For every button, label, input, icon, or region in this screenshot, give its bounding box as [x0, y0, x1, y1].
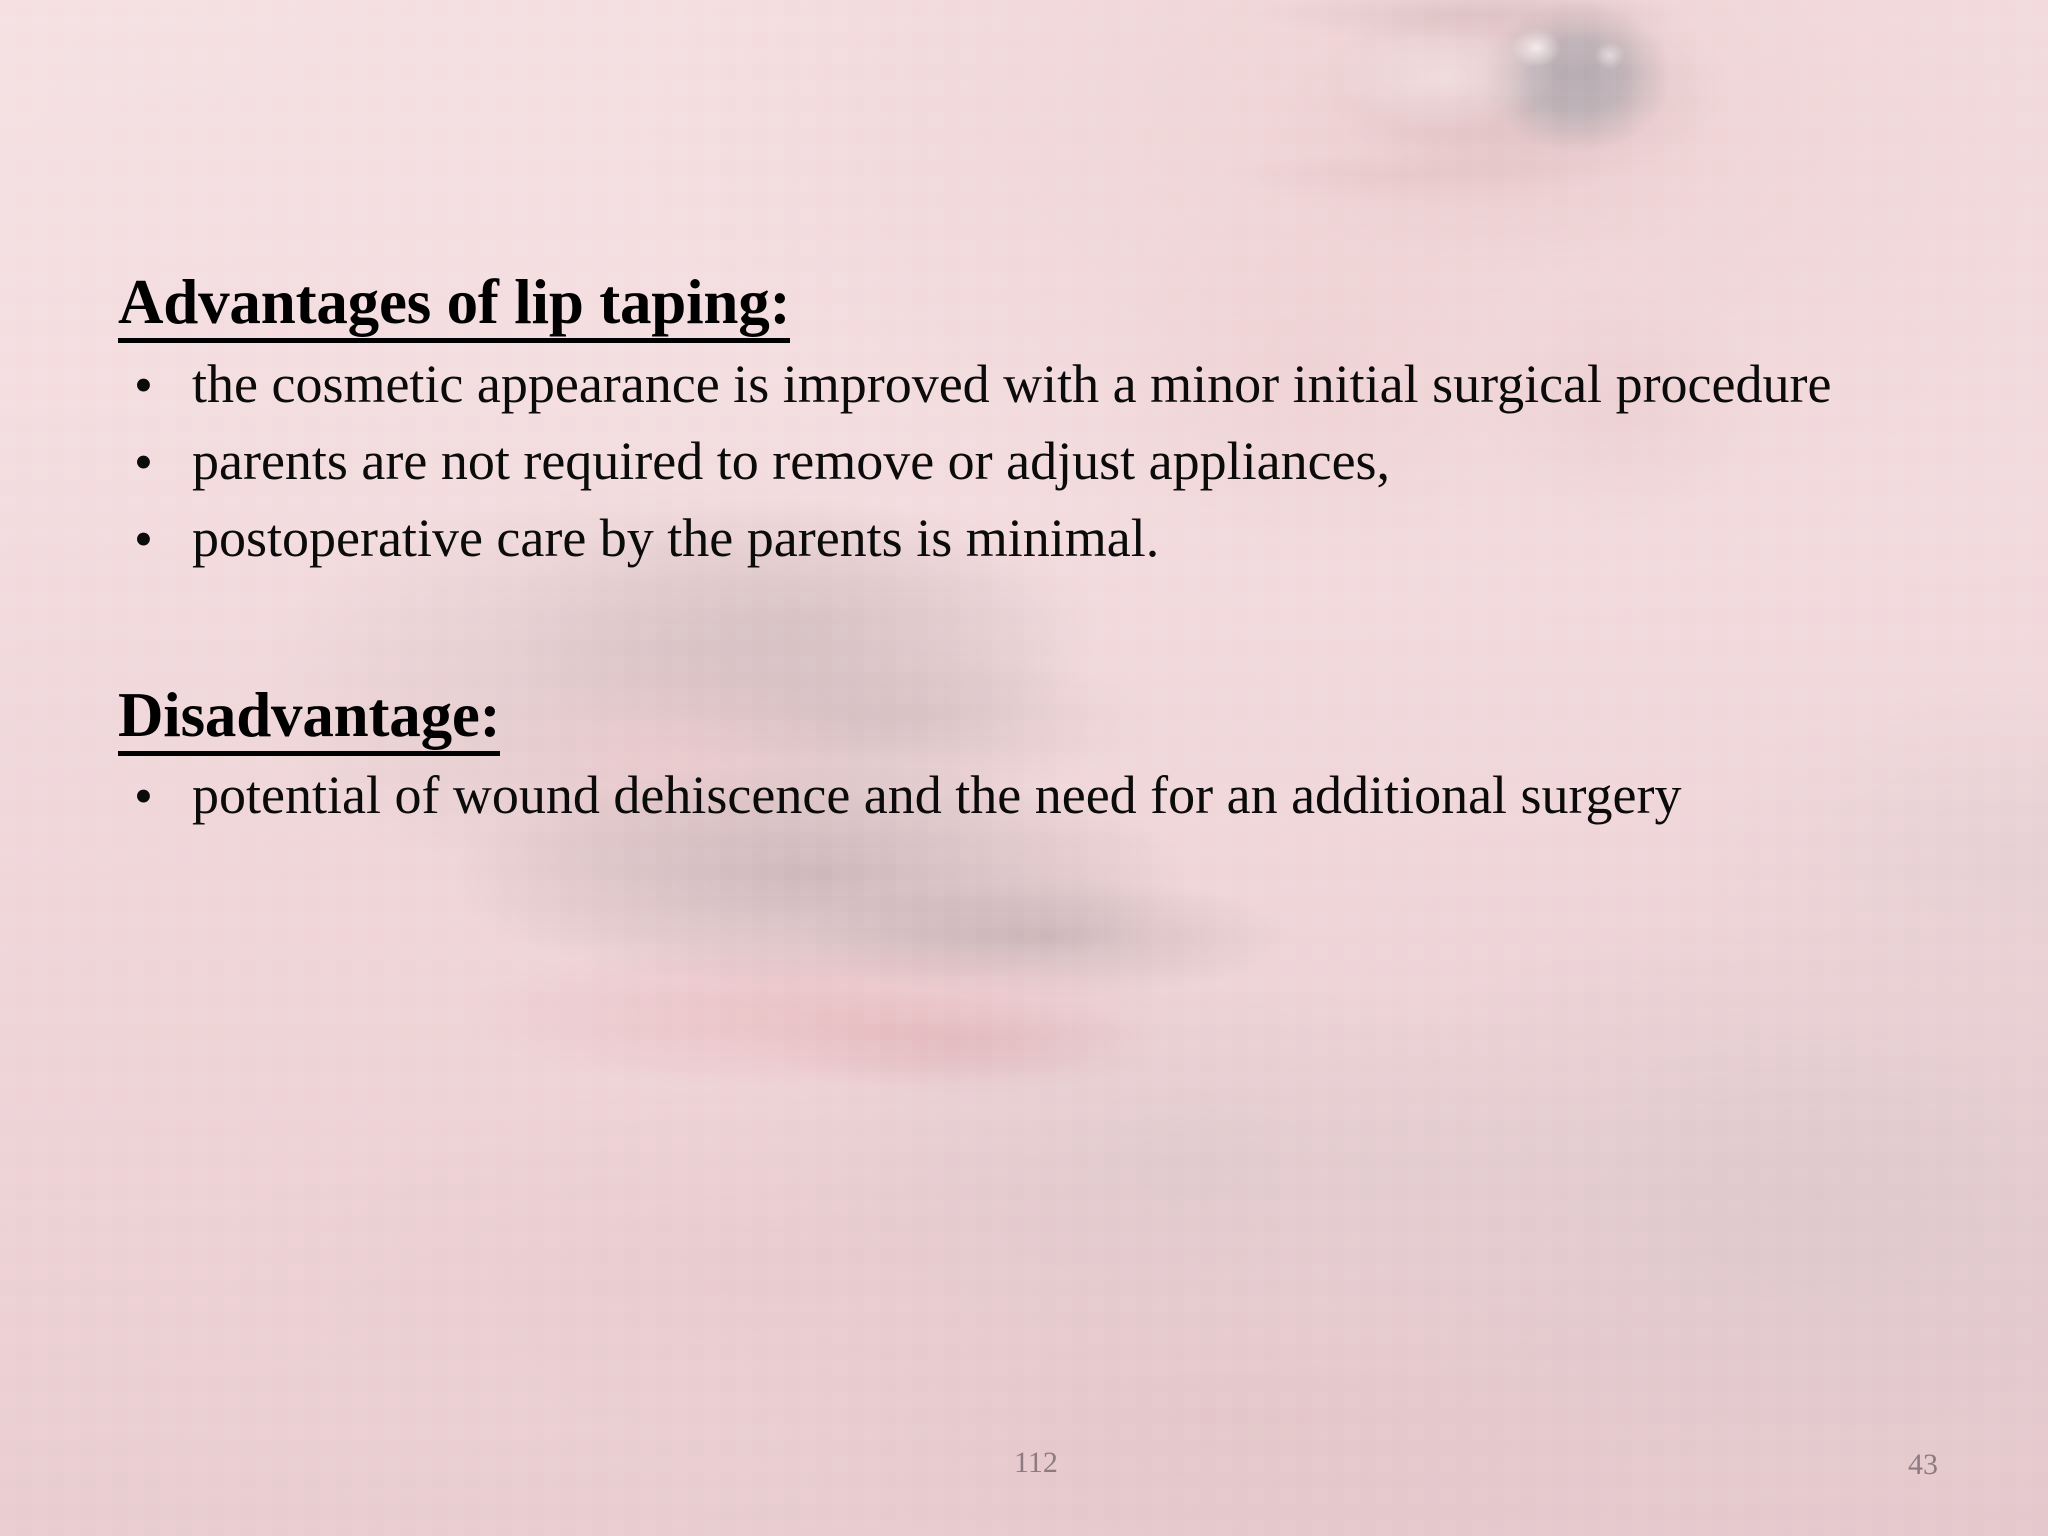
- bullet-dot-icon: •: [134, 354, 153, 417]
- list-item: • the cosmetic appearance is improved wi…: [118, 353, 1938, 416]
- disadvantage-heading: Disadvantage:: [118, 681, 500, 756]
- advantages-heading-row: Advantages of lip taping:: [118, 268, 1938, 343]
- slide-canvas: Advantages of lip taping: • the cosmetic…: [0, 0, 2048, 1536]
- bullet-dot-icon: •: [134, 508, 153, 571]
- footer-page-number: 43: [1908, 1448, 1938, 1482]
- disadvantage-bullet-list: • potential of wound dehiscence and the …: [118, 764, 1938, 827]
- list-item-text: the cosmetic appearance is improved with…: [192, 354, 1831, 414]
- footer-reference-number: 112: [1014, 1446, 1058, 1480]
- advantages-bullet-list: • the cosmetic appearance is improved wi…: [118, 353, 1938, 571]
- disadvantage-heading-row: Disadvantage:: [118, 681, 1938, 756]
- list-item: • potential of wound dehiscence and the …: [118, 764, 1938, 827]
- advantages-heading: Advantages of lip taping:: [118, 268, 790, 343]
- slide-body: Advantages of lip taping: • the cosmetic…: [118, 268, 1938, 841]
- list-item-text: parents are not required to remove or ad…: [192, 431, 1390, 491]
- list-item-text: potential of wound dehiscence and the ne…: [192, 765, 1682, 825]
- list-item: • postoperative care by the parents is m…: [118, 507, 1938, 570]
- section-spacer: [118, 585, 1938, 681]
- bullet-dot-icon: •: [134, 431, 153, 494]
- list-item-text: postoperative care by the parents is min…: [192, 508, 1159, 568]
- list-item: • parents are not required to remove or …: [118, 430, 1938, 493]
- bullet-dot-icon: •: [134, 765, 153, 828]
